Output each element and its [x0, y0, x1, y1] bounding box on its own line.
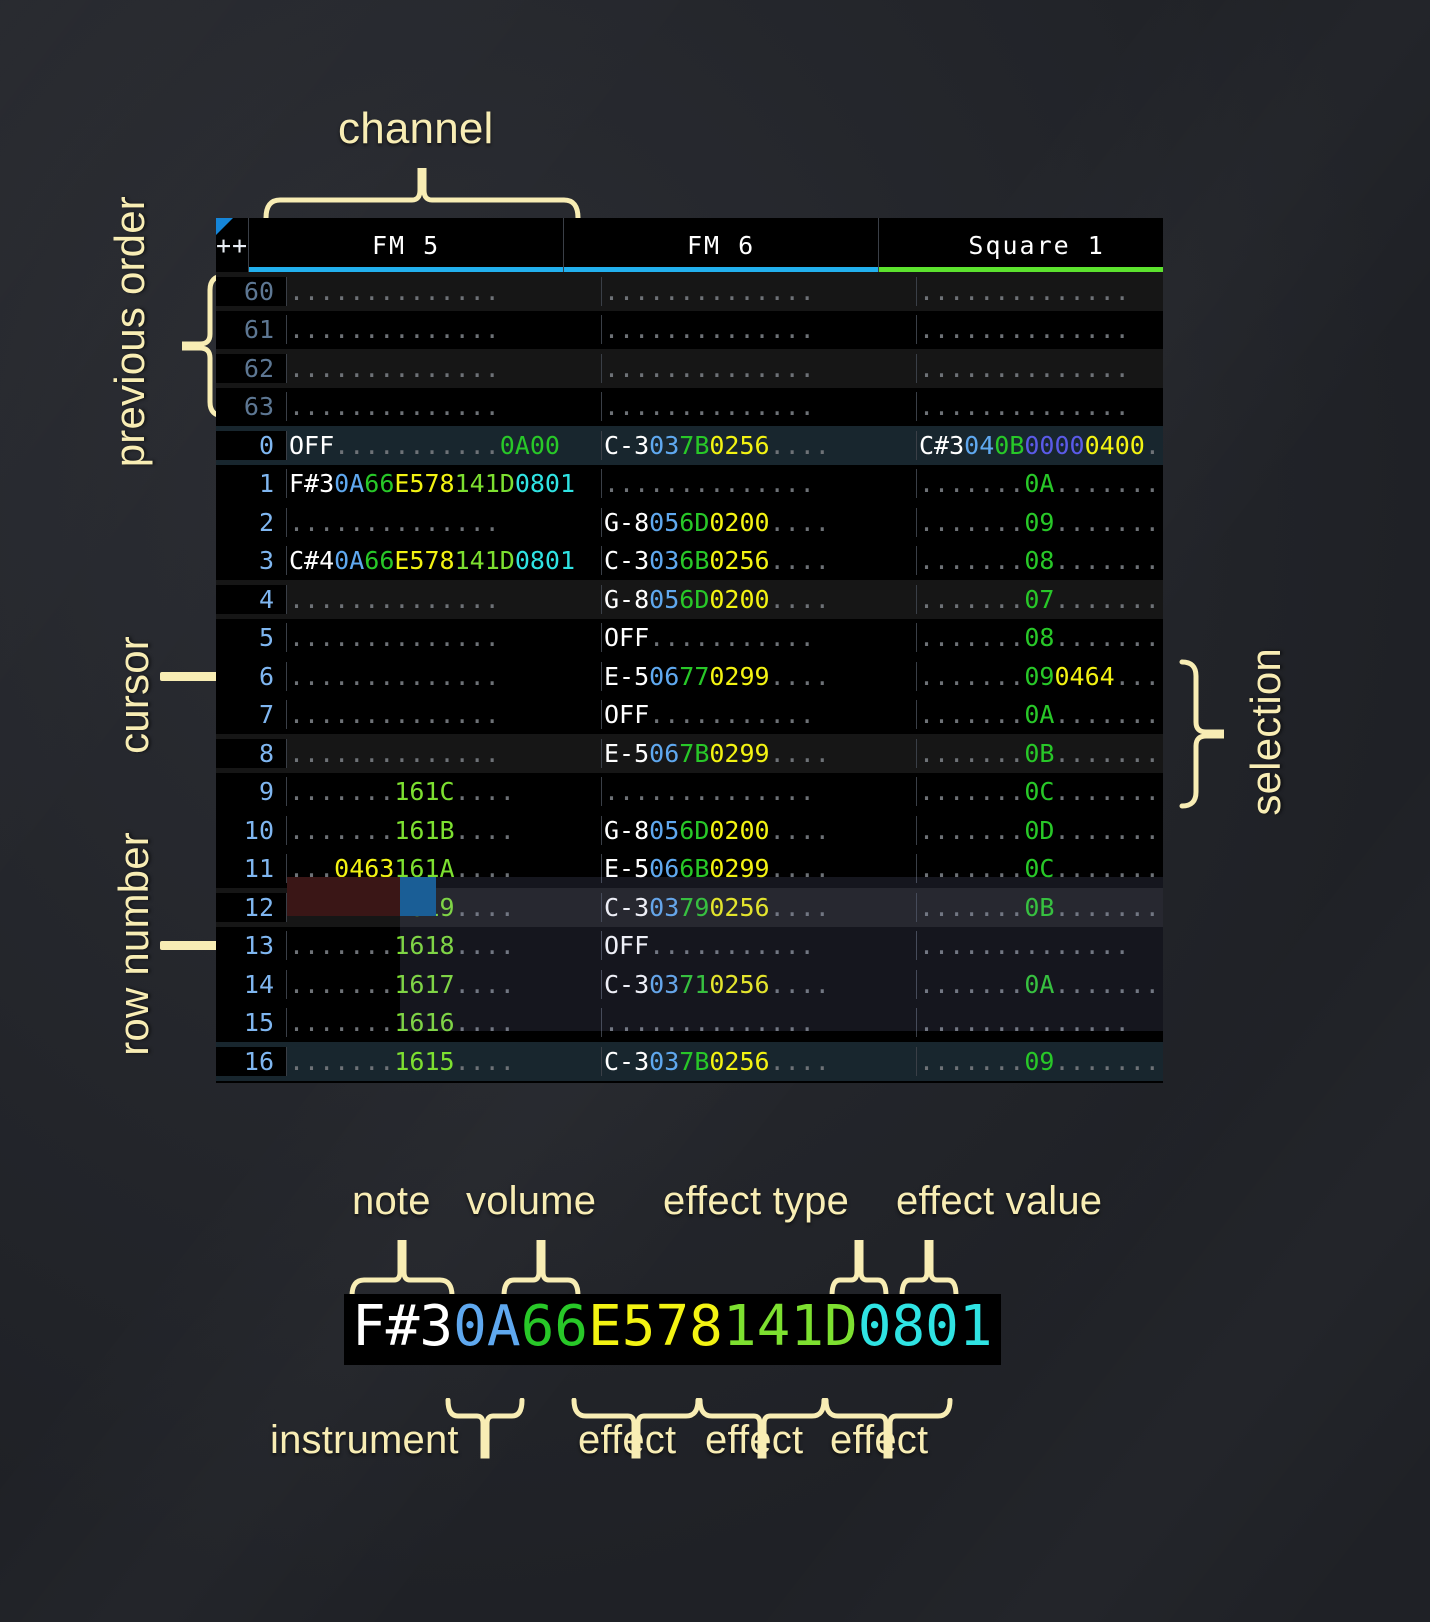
pattern-token-n: E-5 — [604, 662, 649, 691]
pattern-token-dot: ....... — [919, 1047, 1024, 1076]
pattern-cell-fm5[interactable]: .......1619.... — [287, 893, 602, 922]
row-number-cell[interactable]: 8 — [216, 739, 287, 768]
pattern-token-dot: .... — [770, 970, 830, 999]
corner-marker-icon — [216, 218, 233, 235]
pattern-cell-square1[interactable]: .......0B.......... — [917, 739, 1163, 768]
bracket-volume — [500, 1240, 582, 1298]
pattern-token-i: 06 — [649, 854, 679, 883]
pattern-token-e2: 161C — [394, 777, 454, 806]
pattern-token-dot: .......... — [1054, 700, 1163, 729]
pattern-token-i: 03 — [649, 431, 679, 460]
pattern-cell-fm6[interactable]: C-303710256.... — [602, 970, 917, 999]
pattern-cell-fm6[interactable]: OFF........... — [602, 700, 917, 729]
pattern-token-dot: ....... — [289, 1008, 394, 1037]
pattern-token-e1: 0200 — [709, 508, 769, 537]
bracket-effect-value — [898, 1240, 960, 1298]
pattern-token-dot: .......... — [1054, 970, 1163, 999]
pattern-token-dot: .............. — [919, 1008, 1130, 1037]
pattern-cell-fm6[interactable]: OFF........... — [602, 931, 917, 960]
pattern-token-dot: .............. — [604, 469, 815, 498]
pattern-token-i: 05 — [649, 508, 679, 537]
pattern-token-dot: .......... — [1054, 893, 1163, 922]
pattern-token-v: 7B — [679, 1047, 709, 1076]
pattern-cell-square1[interactable]: .............. — [917, 315, 1163, 344]
pattern-token-e2: 1618 — [394, 931, 454, 960]
pattern-token-n: G-8 — [604, 508, 649, 537]
pattern-row[interactable]: 14.......1617....C-303710256...........0… — [216, 965, 1163, 1004]
pattern-cell-square1[interactable]: .......0D.......... — [917, 816, 1163, 845]
pattern-token-dot: ....... — [289, 970, 394, 999]
row-number-cell[interactable]: 9 — [216, 777, 287, 806]
pattern-token-dot: .... — [455, 893, 515, 922]
pattern-token-i: 06 — [649, 739, 679, 768]
pattern-cell-fm6[interactable]: .............. — [602, 277, 917, 306]
pattern-token-dot: ....... — [919, 854, 1024, 883]
pattern-row[interactable]: 10.......161B....G-8056D0200...........0… — [216, 811, 1163, 850]
pattern-cell-fm5[interactable]: .............. — [287, 392, 602, 421]
pattern-cell-fm6[interactable]: .............. — [602, 469, 917, 498]
pattern-token-n: OFF — [289, 431, 334, 460]
pattern-token-v: 6B — [679, 546, 709, 575]
pattern-token-dot: ....... — [919, 585, 1024, 614]
annotation-label-row-number: row number — [110, 832, 158, 1056]
pattern-token-v: 71 — [679, 970, 709, 999]
pattern-cell-square1[interactable]: .............. — [917, 1008, 1163, 1037]
row-number-cell[interactable]: 7 — [216, 700, 287, 729]
row-number-cell[interactable]: 15 — [216, 1008, 287, 1037]
pattern-token-v: 0B — [1024, 739, 1054, 768]
pattern-token-dot: .............. — [604, 1008, 815, 1037]
pattern-row[interactable]: 63......................................… — [216, 388, 1163, 427]
pattern-cell-fm5[interactable]: .......1615.... — [287, 1047, 602, 1076]
pattern-cell-fm6[interactable]: .............. — [602, 777, 917, 806]
channel-header-2[interactable]: FM 6 — [564, 218, 879, 272]
pattern-token-dot: .............. — [289, 508, 500, 537]
row-number-cell[interactable]: 60 — [216, 277, 287, 306]
pattern-row[interactable]: 62......................................… — [216, 349, 1163, 388]
pattern-token-v: 09 — [1024, 662, 1054, 691]
pattern-cell-fm6[interactable]: OFF........... — [602, 623, 917, 652]
pattern-token-dot: .... — [455, 970, 515, 999]
pattern-token-dot: ....... — [919, 816, 1024, 845]
pattern-row[interactable]: 61......................................… — [216, 311, 1163, 350]
pattern-token-e3: 0801 — [515, 469, 575, 498]
pattern-cell-fm6[interactable]: C-3037B0256.... — [602, 431, 917, 460]
pattern-token-dot: .............. — [604, 392, 815, 421]
pattern-token-dot: .... — [455, 1008, 515, 1037]
pattern-token-dot: .............. — [289, 277, 500, 306]
pattern-cell-fm6[interactable]: E-5066B0299.... — [602, 854, 917, 883]
pattern-token-v: 09 — [1024, 508, 1054, 537]
pattern-token-e1: 0299 — [709, 739, 769, 768]
pattern-token-n: C-3 — [604, 546, 649, 575]
pattern-token-dot: ........... — [649, 623, 815, 652]
pattern-token-dot: .... — [770, 816, 830, 845]
pattern-token-v: 0B — [1024, 893, 1054, 922]
pattern-token-dot: .............. — [289, 354, 500, 383]
pattern-token-dot: ........... — [649, 700, 815, 729]
pattern-row[interactable]: 8..............E-5067B0299...........0B.… — [216, 734, 1163, 773]
pattern-token-dot: .............. — [919, 277, 1130, 306]
pattern-token-v: 0A — [1024, 700, 1054, 729]
pattern-cell-square1[interactable]: .......09.......... — [917, 508, 1163, 537]
pattern-cell-fm5[interactable]: C#40A66E578141D0801 — [287, 546, 602, 575]
pattern-token-n: C#3 — [919, 431, 964, 460]
pattern-token-n: OFF — [604, 700, 649, 729]
pattern-token-dot: .... — [770, 1047, 830, 1076]
pattern-token-e1: 0256 — [709, 893, 769, 922]
pattern-cell-fm5[interactable]: .......1617.... — [287, 970, 602, 999]
pattern-row[interactable]: 7..............OFF..................0A..… — [216, 696, 1163, 735]
pattern-token-dot: .... — [1145, 431, 1163, 460]
pattern-token-e1: 0400 — [1085, 431, 1145, 460]
pattern-token-i: 0A — [334, 546, 364, 575]
pattern-token-i: 03 — [649, 546, 679, 575]
pattern-cell-fm5[interactable]: .............. — [287, 623, 602, 652]
pattern-token-v: 66 — [364, 546, 394, 575]
legend-token-e2: 141D — [723, 1294, 858, 1359]
pattern-cell-square1[interactable]: .............. — [917, 392, 1163, 421]
pattern-token-dot: .... — [770, 585, 830, 614]
pattern-token-i: 03 — [649, 1047, 679, 1076]
pattern-row[interactable]: 60......................................… — [216, 272, 1163, 311]
row-number-cell[interactable]: 5 — [216, 623, 287, 652]
channel-header-label: Square 1 — [968, 231, 1104, 260]
annotation-label-effect-type: effect type — [663, 1179, 849, 1224]
pattern-row[interactable]: 15.......1616...........................… — [216, 1004, 1163, 1043]
pattern-cell-square1[interactable]: .......09.......... — [917, 1047, 1163, 1076]
pattern-token-v: 0C — [1024, 777, 1054, 806]
pattern-cell-fm6[interactable]: .............. — [602, 354, 917, 383]
bracket-effect-1 — [570, 1398, 702, 1460]
pattern-token-dot: .... — [770, 662, 830, 691]
channel-header-1[interactable]: FM 5 — [249, 218, 564, 272]
pattern-cell-square1[interactable]: .......0C.......... — [917, 854, 1163, 883]
pattern-token-e2: 1615 — [394, 1047, 454, 1076]
pattern-token-dot: .............. — [289, 623, 500, 652]
pattern-cell-square1[interactable]: .......0A.......... — [917, 970, 1163, 999]
pattern-editor[interactable]: ++ FM 5FM 6Square 1 60..................… — [216, 218, 1163, 1083]
pattern-token-dot: .............. — [919, 931, 1130, 960]
pattern-cell-fm6[interactable]: G-8056D0200.... — [602, 585, 917, 614]
row-number-cell[interactable]: 0 — [216, 431, 287, 460]
pattern-token-dot: ....... — [919, 777, 1024, 806]
pattern-cell-square1[interactable]: .......08.......... — [917, 623, 1163, 652]
pattern-token-dot: ....... — [289, 931, 394, 960]
pattern-token-v: 0A00 — [500, 431, 560, 460]
row-number-cell[interactable]: 61 — [216, 315, 287, 344]
legend-token-i: 0A — [453, 1294, 520, 1359]
pattern-token-dot: .............. — [604, 277, 815, 306]
pattern-token-e2: 1619 — [394, 893, 454, 922]
pattern-token-dot: .............. — [604, 354, 815, 383]
pattern-row[interactable]: 5..............OFF..................08..… — [216, 619, 1163, 658]
pattern-cell-fm6[interactable]: E-506770299.... — [602, 662, 917, 691]
pattern-token-dot: .......... — [1054, 739, 1163, 768]
annotation-label-previous-order: previous order — [106, 196, 154, 467]
pattern-token-v: 6D — [679, 816, 709, 845]
pattern-row[interactable]: 11...0463161A....E-5066B0299...........0… — [216, 850, 1163, 889]
pattern-token-v: 66 — [364, 469, 394, 498]
pattern-token-v: 09 — [1024, 1047, 1054, 1076]
pattern-token-e2: 141D — [455, 469, 515, 498]
pattern-token-e1: 0256 — [709, 970, 769, 999]
legend-token-n: F#3 — [352, 1294, 453, 1359]
bracket-effect-2 — [696, 1398, 828, 1460]
pattern-row[interactable]: 3C#40A66E578141D0801C-3036B0256.........… — [216, 542, 1163, 581]
pattern-cell-fm5[interactable]: ...0463161A.... — [287, 854, 602, 883]
pattern-cell-square1[interactable]: .............. — [917, 931, 1163, 960]
pattern-cell-square1[interactable]: .............. — [917, 277, 1163, 306]
pattern-token-e1: 0200 — [709, 816, 769, 845]
pattern-token-dot: ....... — [919, 739, 1024, 768]
pattern-token-dot: .... — [455, 777, 515, 806]
pattern-token-i: 05 — [649, 585, 679, 614]
pattern-token-dot: .............. — [604, 777, 815, 806]
pattern-cell-fm6[interactable]: .............. — [602, 315, 917, 344]
pattern-token-dot: .......... — [1054, 854, 1163, 883]
pattern-token-dot: .... — [770, 893, 830, 922]
pattern-cell-fm5[interactable]: .......1618.... — [287, 931, 602, 960]
pattern-token-e1: 0256 — [709, 431, 769, 460]
pattern-token-dot: ....... — [919, 469, 1024, 498]
pattern-token-e1: 0200 — [709, 585, 769, 614]
pattern-token-e1: 0299 — [709, 854, 769, 883]
row-number-cell[interactable]: 12 — [216, 893, 287, 922]
row-number-cell[interactable]: 13 — [216, 931, 287, 960]
legend-token-e3: 0801 — [858, 1294, 993, 1359]
row-number-cell[interactable]: 1 — [216, 469, 287, 498]
pattern-token-n: OFF — [604, 931, 649, 960]
pattern-token-dot: ....... — [919, 508, 1024, 537]
pattern-token-dot: .............. — [289, 739, 500, 768]
pattern-token-n: C#4 — [289, 546, 334, 575]
pattern-cell-fm6[interactable]: .............. — [602, 392, 917, 421]
pattern-token-dot: .... — [770, 431, 830, 460]
pattern-token-dot: .............. — [919, 354, 1130, 383]
pattern-token-dot: .............. — [289, 585, 500, 614]
pattern-token-i: 04 — [964, 431, 994, 460]
pattern-token-n: C-3 — [604, 431, 649, 460]
pattern-token-n: C-3 — [604, 970, 649, 999]
pattern-token-e2: 161A — [394, 854, 454, 883]
pattern-row[interactable]: 0OFF...........0A00C-3037B0256....C#3040… — [216, 426, 1163, 465]
pattern-token-dot: .............. — [919, 315, 1130, 344]
pattern-token-v: 0A — [1024, 970, 1054, 999]
pattern-cell-fm5[interactable]: .............. — [287, 508, 602, 537]
pattern-cell-square1[interactable]: .......0A.......... — [917, 469, 1163, 498]
pattern-token-dot: .... — [455, 816, 515, 845]
pattern-token-dot: ....... — [289, 777, 394, 806]
pattern-token-dot: ....... — [919, 700, 1024, 729]
bracket-selection — [1178, 658, 1224, 810]
pattern-cell-square1[interactable]: .......0C.......... — [917, 777, 1163, 806]
pattern-token-v: 08 — [1024, 546, 1054, 575]
pattern-token-i: 03 — [649, 893, 679, 922]
pattern-token-dot: .............. — [289, 662, 500, 691]
pattern-token-dot: ...... — [1115, 662, 1163, 691]
bracket-channel — [262, 168, 582, 220]
pattern-token-dot: .......... — [1054, 469, 1163, 498]
row-number-cell[interactable]: 2 — [216, 508, 287, 537]
pattern-token-e2: 141D — [455, 546, 515, 575]
bracket-effect-type — [828, 1240, 890, 1298]
bracket-effect-3 — [822, 1398, 954, 1460]
pattern-cell-fm5[interactable]: .............. — [287, 662, 602, 691]
pattern-token-n: C-3 — [604, 893, 649, 922]
pattern-token-dot: .............. — [289, 315, 500, 344]
pattern-token-v: 77 — [679, 662, 709, 691]
pattern-cell-fm6[interactable]: E-5067B0299.... — [602, 739, 917, 768]
row-number-cell[interactable]: 62 — [216, 354, 287, 383]
pattern-cell-fm5[interactable]: .............. — [287, 315, 602, 344]
pattern-token-dot: .......... — [1054, 1047, 1163, 1076]
pattern-row[interactable]: 9.......161C.........................0C.… — [216, 773, 1163, 812]
pattern-token-dot: .... — [455, 854, 515, 883]
pattern-token-dot: .... — [770, 508, 830, 537]
pattern-token-dot: .... — [455, 931, 515, 960]
pattern-token-v: 07 — [1024, 585, 1054, 614]
pattern-row[interactable]: 1F#30A66E578141D0801....................… — [216, 465, 1163, 504]
pattern-token-n: C-3 — [604, 1047, 649, 1076]
pattern-token-dot: .............. — [604, 315, 815, 344]
pattern-token-dot: .............. — [289, 392, 500, 421]
pattern-token-dot: .......... — [1054, 585, 1163, 614]
pattern-token-n: OFF — [604, 623, 649, 652]
pattern-token-v: 0A — [1024, 469, 1054, 498]
legend-token-e1: E578 — [588, 1294, 723, 1359]
annotation-label-volume: volume — [466, 1179, 596, 1224]
row-number-cell[interactable]: 14 — [216, 970, 287, 999]
pattern-token-dot: ....... — [919, 662, 1024, 691]
pattern-cell-fm6[interactable]: G-8056D0200.... — [602, 816, 917, 845]
pattern-cell-fm6[interactable]: .............. — [602, 1008, 917, 1037]
pattern-token-e1: E578 — [394, 546, 454, 575]
pattern-cell-square1[interactable]: .......0B.......... — [917, 893, 1163, 922]
channel-header-bar: ++ FM 5FM 6Square 1 — [216, 218, 1163, 272]
pattern-cell-fm5[interactable]: .............. — [287, 585, 602, 614]
row-number-cell[interactable]: 6 — [216, 662, 287, 691]
pattern-token-dot: .......... — [1054, 546, 1163, 575]
pattern-token-dot: .............. — [919, 392, 1130, 421]
pattern-cell-fm5[interactable]: .............. — [287, 354, 602, 383]
row-number-cell[interactable]: 10 — [216, 816, 287, 845]
pattern-token-e4: 0000 — [1024, 431, 1084, 460]
annotation-label-note: note — [352, 1179, 431, 1224]
pattern-token-dot: ....... — [289, 1047, 394, 1076]
pattern-cell-square1[interactable]: C#3040B00000400.... — [917, 431, 1163, 460]
pattern-token-e1: 0299 — [709, 662, 769, 691]
channel-header-3[interactable]: Square 1 — [879, 218, 1163, 272]
row-number-cell[interactable]: 63 — [216, 392, 287, 421]
pattern-token-n: E-5 — [604, 854, 649, 883]
pattern-token-dot: ....... — [289, 893, 394, 922]
pattern-cell-fm6[interactable]: G-8056D0200.... — [602, 508, 917, 537]
pattern-cell-fm5[interactable]: .............. — [287, 739, 602, 768]
legend-token-v: 66 — [521, 1294, 588, 1359]
pattern-cell-square1[interactable]: .......07.......... — [917, 585, 1163, 614]
annotation-label-cursor: cursor — [110, 636, 158, 754]
row-number-cell[interactable]: 16 — [216, 1047, 287, 1076]
pattern-token-e1: 0256 — [709, 1047, 769, 1076]
pattern-cell-fm5[interactable]: F#30A66E578141D0801 — [287, 469, 602, 498]
legend-pattern-row: F#30A66E578141D0801 — [344, 1294, 1001, 1365]
annotation-label-channel: channel — [338, 104, 494, 154]
pattern-token-e3: 0801 — [515, 546, 575, 575]
pattern-token-dot: .... — [770, 739, 830, 768]
pattern-rows[interactable]: 60......................................… — [216, 272, 1163, 1081]
pattern-row[interactable]: 2..............G-8056D0200...........09.… — [216, 503, 1163, 542]
bracket-instrument — [444, 1398, 526, 1460]
pattern-cell-square1[interactable]: .......08.......... — [917, 546, 1163, 575]
pattern-token-v: 7B — [679, 739, 709, 768]
pattern-token-v: 0B — [994, 431, 1024, 460]
pattern-token-n: G-8 — [604, 585, 649, 614]
pattern-token-dot: ........... — [649, 931, 815, 960]
pattern-token-dot: ....... — [919, 623, 1024, 652]
pattern-row[interactable]: 4..............G-8056D0200...........07.… — [216, 580, 1163, 619]
pattern-row[interactable]: 12.......1619....C-303790256...........0… — [216, 888, 1163, 927]
pattern-token-dot: .... — [770, 854, 830, 883]
pattern-cell-fm5[interactable]: .......161C.... — [287, 777, 602, 806]
pattern-token-n: G-8 — [604, 816, 649, 845]
row-number-cell[interactable]: 11 — [216, 854, 287, 883]
gutter-header[interactable]: ++ — [216, 218, 249, 272]
pattern-row[interactable]: 16.......1615....C-3037B0256...........0… — [216, 1042, 1163, 1081]
pattern-cell-square1[interactable]: .......090464...... — [917, 662, 1163, 691]
pattern-token-e1: 0463 — [334, 854, 394, 883]
pattern-token-i: 06 — [649, 662, 679, 691]
pattern-cell-square1[interactable]: .......0A.......... — [917, 700, 1163, 729]
pattern-token-e2: 161B — [394, 816, 454, 845]
pattern-cell-fm5[interactable]: OFF...........0A00 — [287, 431, 602, 460]
pattern-token-dot: ... — [289, 854, 334, 883]
annotation-label-instrument: instrument — [270, 1418, 459, 1463]
annotation-label-effect-value: effect value — [896, 1179, 1102, 1224]
pattern-token-dot: .............. — [289, 700, 500, 729]
pattern-token-dot: ........... — [334, 431, 500, 460]
pattern-row[interactable]: 13.......1618....OFF....................… — [216, 927, 1163, 966]
channel-header-label: FM 6 — [687, 231, 755, 260]
channel-header-label: FM 5 — [372, 231, 440, 260]
pattern-token-v: 0D — [1024, 816, 1054, 845]
pattern-token-v: 6D — [679, 585, 709, 614]
pattern-token-dot: .... — [770, 546, 830, 575]
bracket-note — [348, 1240, 456, 1298]
pattern-cell-square1[interactable]: .............. — [917, 354, 1163, 383]
pattern-row[interactable]: 6..............E-506770299...........090… — [216, 657, 1163, 696]
pattern-cell-fm5[interactable]: .......1616.... — [287, 1008, 602, 1037]
pattern-cell-fm5[interactable]: .............. — [287, 277, 602, 306]
pattern-token-e1: E578 — [394, 469, 454, 498]
pattern-cell-fm5[interactable]: .......161B.... — [287, 816, 602, 845]
pattern-cell-fm5[interactable]: .............. — [287, 700, 602, 729]
pattern-token-e1: 0464 — [1054, 662, 1114, 691]
pattern-cell-fm6[interactable]: C-3036B0256.... — [602, 546, 917, 575]
pattern-token-i: 03 — [649, 970, 679, 999]
pattern-cell-fm6[interactable]: C-303790256.... — [602, 893, 917, 922]
pattern-token-v: 6B — [679, 854, 709, 883]
pattern-cell-fm6[interactable]: C-3037B0256.... — [602, 1047, 917, 1076]
pattern-token-dot: ....... — [919, 546, 1024, 575]
annotation-label-selection: selection — [1242, 648, 1290, 816]
pattern-token-dot: .......... — [1054, 816, 1163, 845]
pattern-token-v: 0C — [1024, 854, 1054, 883]
pattern-token-dot: .... — [455, 1047, 515, 1076]
pattern-token-e2: 1616 — [394, 1008, 454, 1037]
row-number-cell[interactable]: 4 — [216, 585, 287, 614]
row-number-cell[interactable]: 3 — [216, 546, 287, 575]
